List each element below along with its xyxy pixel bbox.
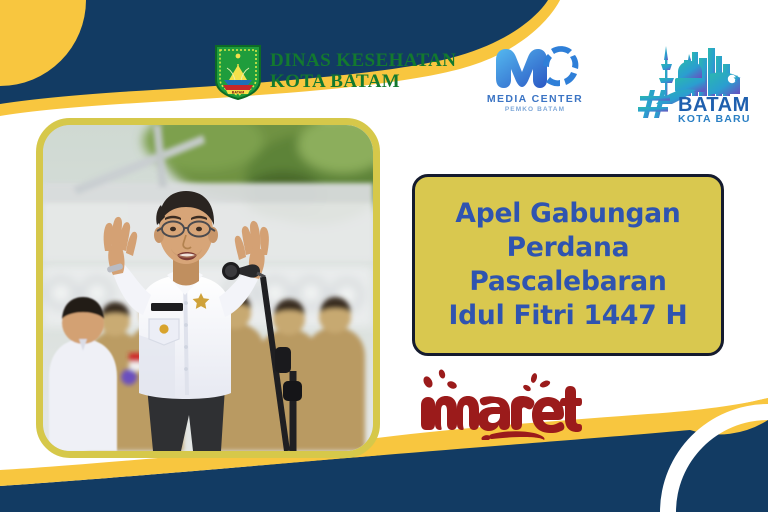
- title-panel: Apel Gabungan Perdana Pascalebaran Idul …: [412, 174, 724, 356]
- title-line-2: Perdana: [507, 231, 630, 265]
- batam-wordmark-line2: KOTA BARU: [678, 113, 750, 124]
- media-center-caption-1: MEDIA CENTER: [480, 93, 590, 105]
- dinkes-line-1: DINAS KESEHATAN: [270, 51, 456, 72]
- media-center-monogram-icon: [480, 44, 590, 92]
- logo-media-center: MEDIA CENTER PEMKO BATAM: [480, 44, 590, 113]
- white-gap-bottom-right: [660, 404, 768, 512]
- logo-dinas-kesehatan: BATAM DINAS KESEHATAN KOTA BATAM: [214, 44, 456, 100]
- photo-image: [43, 125, 373, 451]
- logo-batam-kota-baru: BATAM KOTA BARU: [634, 38, 750, 124]
- title-line-3: Pascalebaran: [469, 265, 666, 299]
- title-line-4: Idul Fitri 1447 H: [449, 299, 688, 333]
- batam-kota-baru-icon: BATAM KOTA BARU: [634, 38, 750, 124]
- logo-row: BATAM DINAS KESEHATAN KOTA BATAM: [0, 36, 768, 116]
- beige-corner-bottom-right: [676, 420, 768, 512]
- batam-coat-of-arms-icon: BATAM: [214, 44, 262, 100]
- svg-text:BATAM: BATAM: [232, 91, 244, 95]
- month-wordmark: [412, 368, 582, 440]
- media-center-caption-2: PEMKO BATAM: [480, 106, 590, 113]
- poster-canvas: BATAM DINAS KESEHATAN KOTA BATAM: [0, 0, 768, 512]
- apel-gabungan-photo: [36, 118, 380, 458]
- dinas-kesehatan-label: DINAS KESEHATAN KOTA BATAM: [270, 51, 456, 92]
- title-line-1: Apel Gabungan: [455, 197, 680, 231]
- dinkes-line-2: KOTA BATAM: [270, 72, 456, 93]
